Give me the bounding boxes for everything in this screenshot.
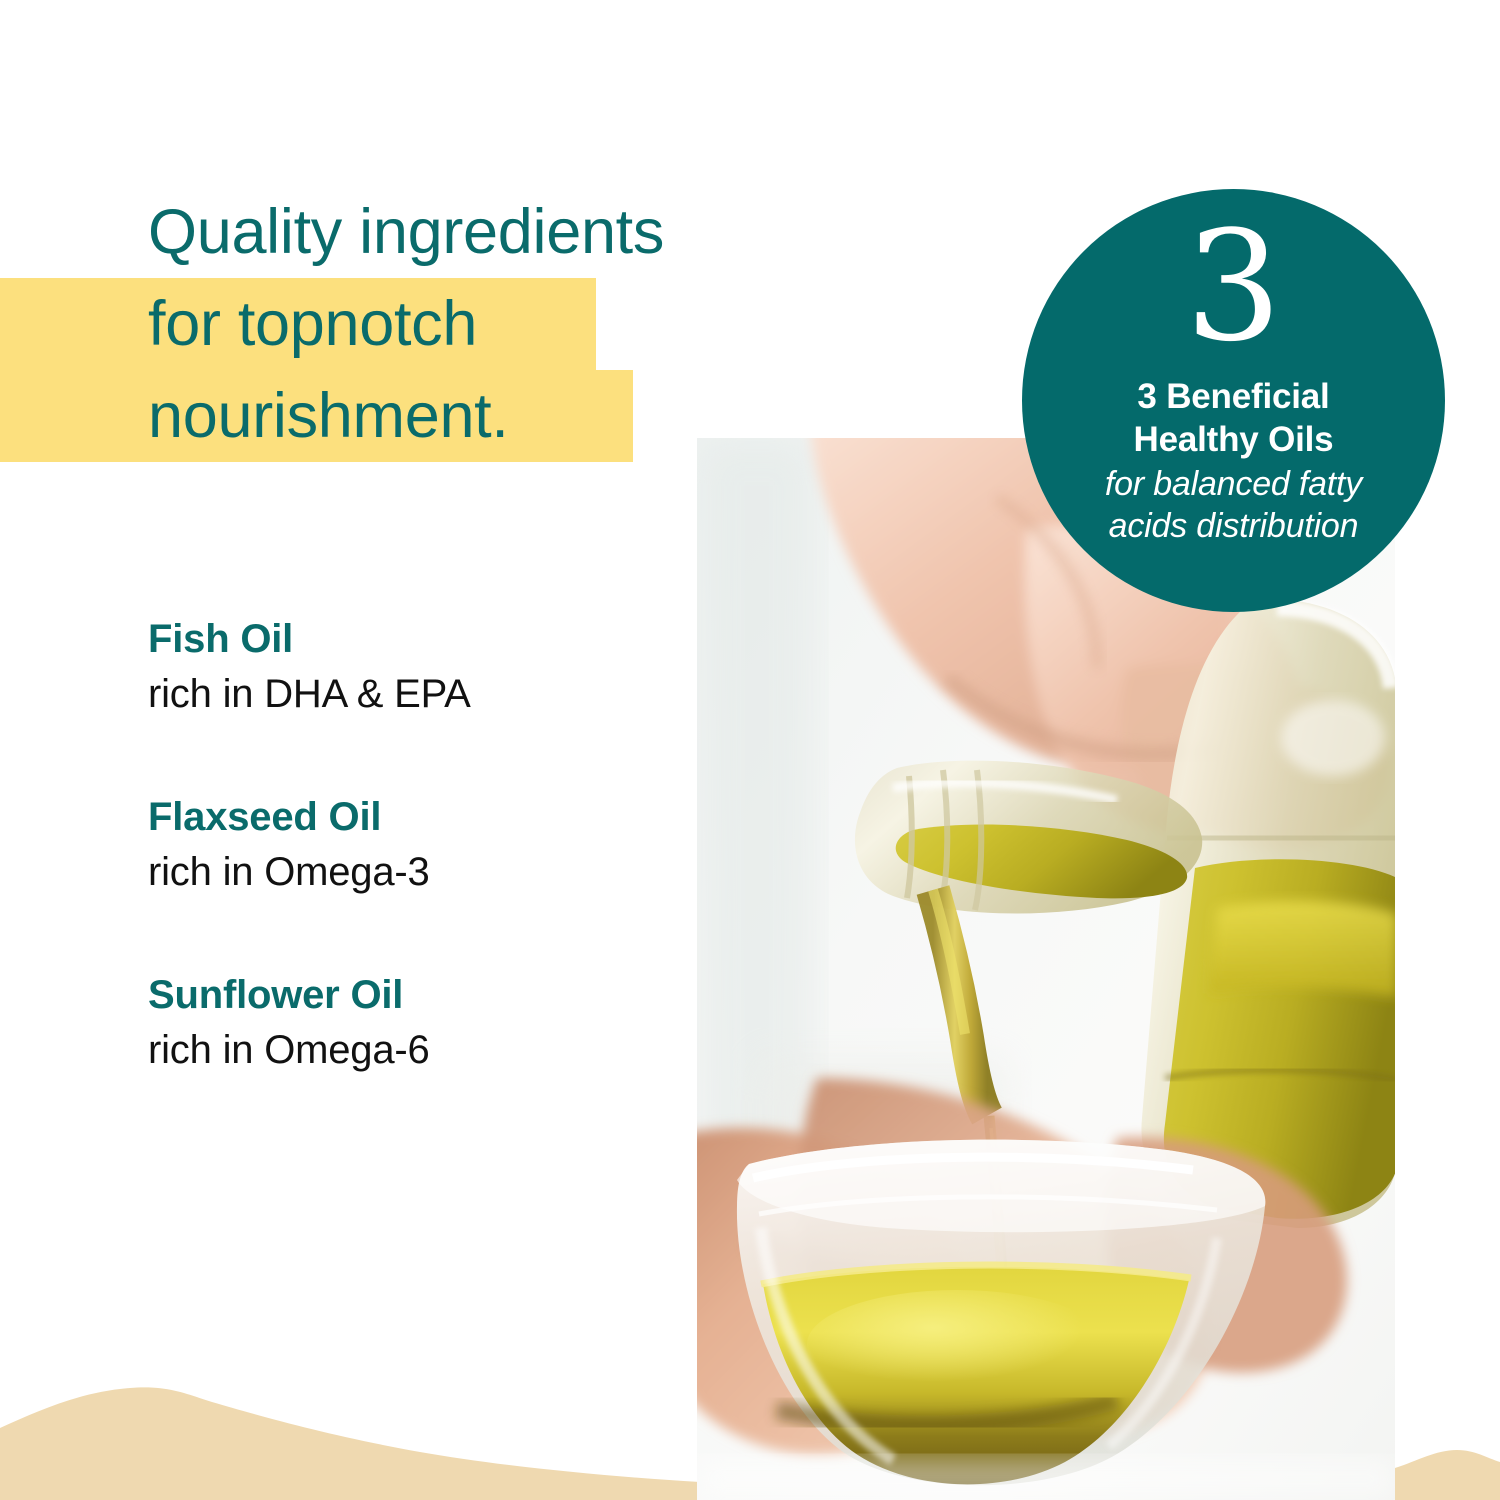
badge-italic-line-1: for balanced fatty (1105, 463, 1362, 505)
badge-label-line-1: 3 Beneficial (1137, 375, 1329, 418)
badge-italic-line-2: acids distribution (1109, 505, 1359, 547)
headline-line-2: for topnotch (0, 278, 700, 370)
decorative-wave-left (0, 1350, 700, 1500)
headline-line-2-row: for topnotch (0, 278, 700, 370)
headline-line-1: Quality ingredients (0, 186, 700, 278)
status-badge: 3 3 Beneficial Healthy Oils for balanced… (1022, 189, 1445, 612)
ingredient-list: Fish Oil rich in DHA & EPA Flaxseed Oil … (148, 612, 668, 1078)
headline-line-3-row: nourishment. (0, 370, 700, 462)
ingredient-desc-flaxseed-oil: rich in Omega-3 (148, 844, 668, 900)
headline-line-3: nourishment. (0, 370, 700, 462)
ingredient-desc-sunflower-oil: rich in Omega-6 (148, 1022, 668, 1078)
list-item: Fish Oil rich in DHA & EPA (148, 612, 668, 722)
decorative-wave-right (1395, 1380, 1500, 1500)
list-item: Flaxseed Oil rich in Omega-3 (148, 790, 668, 900)
headline-line-1-row: Quality ingredients (0, 186, 700, 278)
headline-block: Quality ingredients for topnotch nourish… (0, 186, 700, 462)
badge-label-line-2: Healthy Oils (1134, 418, 1334, 461)
list-item: Sunflower Oil rich in Omega-6 (148, 968, 668, 1078)
ingredient-name-sunflower-oil: Sunflower Oil (148, 968, 668, 1022)
badge-number: 3 (1185, 207, 1282, 367)
ingredient-desc-fish-oil: rich in DHA & EPA (148, 666, 668, 722)
ingredient-name-fish-oil: Fish Oil (148, 612, 668, 666)
ingredient-name-flaxseed-oil: Flaxseed Oil (148, 790, 668, 844)
